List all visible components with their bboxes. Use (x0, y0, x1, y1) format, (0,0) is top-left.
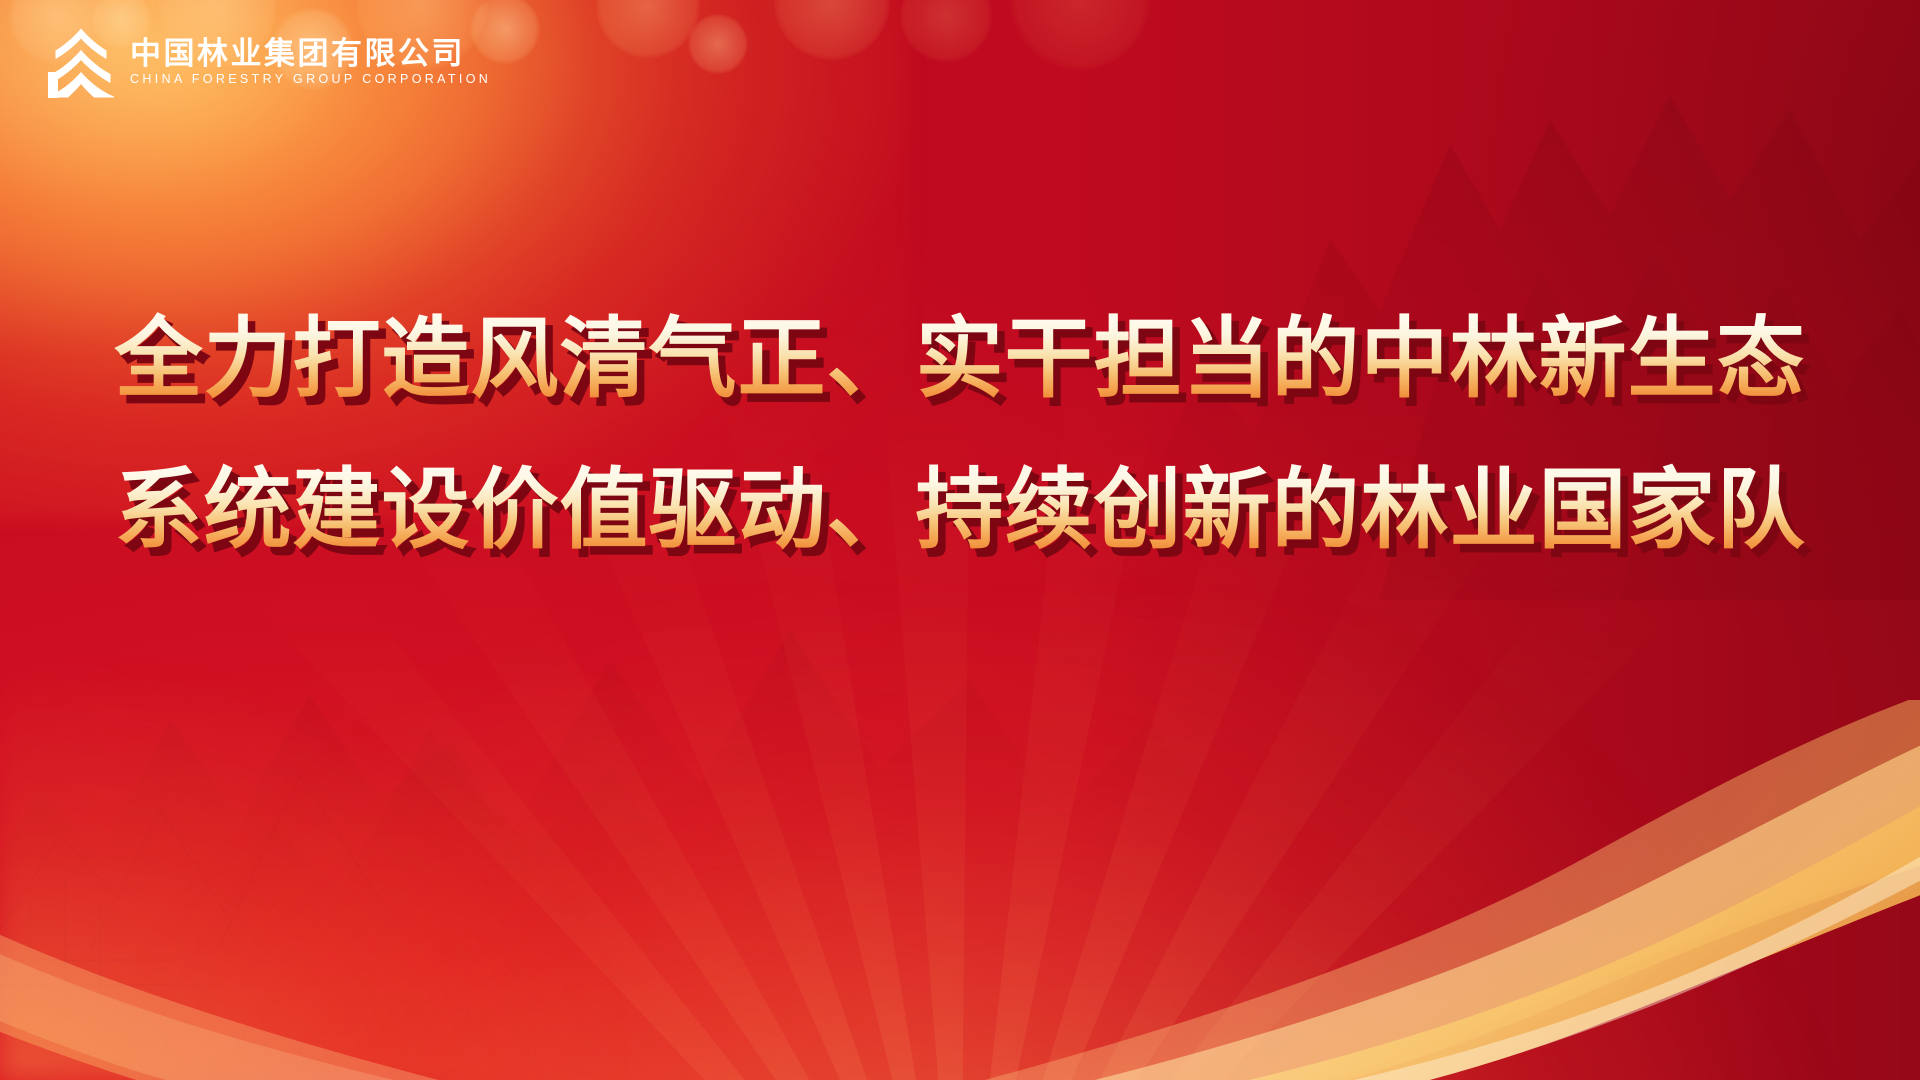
slogan-banner: 中国林业集团有限公司 CHINA FORESTRY GROUP CORPORAT… (0, 0, 1920, 1080)
slogan-line-2: 系统建设价值驱动、持续创新的林业国家队 系统建设价值驱动、持续创新的林业国家队 (46, 451, 1874, 570)
left-light-sweep (0, 660, 620, 1080)
gold-ribbon-right (830, 700, 1920, 1080)
slogan-line-1: 全力打造风清气正、实干担当的中林新生态 全力打造风清气正、实干担当的中林新生态 (46, 300, 1874, 419)
slogan-headline: 全力打造风清气正、实干担当的中林新生态 全力打造风清气正、实干担当的中林新生态 … (0, 300, 1920, 570)
logo-wordmark: 中国林业集团有限公司 CHINA FORESTRY GROUP CORPORAT… (130, 39, 491, 86)
slogan-line-2-text: 系统建设价值驱动、持续创新的林业国家队 (114, 458, 1805, 561)
company-logo[interactable]: 中国林业集团有限公司 CHINA FORESTRY GROUP CORPORAT… (48, 26, 491, 98)
logo-company-name-cn: 中国林业集团有限公司 (130, 39, 491, 70)
logo-company-name-en: CHINA FORESTRY GROUP CORPORATION (130, 73, 491, 86)
pagoda-tree-logo-icon (48, 26, 114, 98)
slogan-line-1-text: 全力打造风清气正、实干担当的中林新生态 (114, 307, 1805, 410)
